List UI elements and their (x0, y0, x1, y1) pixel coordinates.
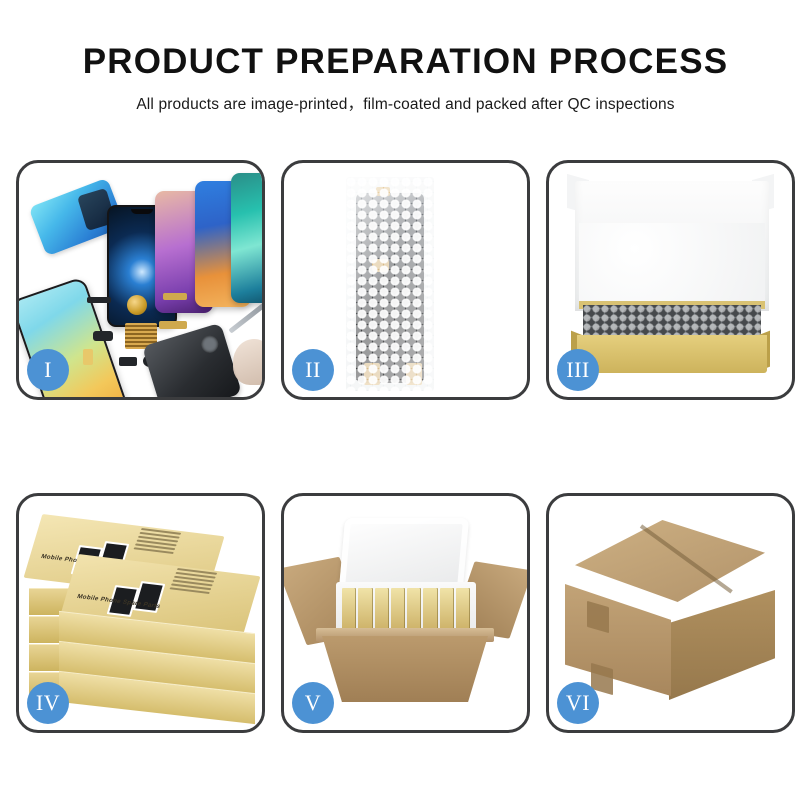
flex-cable-icon (163, 293, 187, 300)
chip-icon (93, 331, 113, 341)
speaker-coil-icon (127, 295, 147, 315)
gold-box-item (391, 588, 405, 630)
header: PRODUCT PREPARATION PROCESS All products… (0, 0, 811, 114)
plastic-sheen (346, 177, 434, 391)
step-badge: II (292, 349, 334, 391)
kraft-carton-icon (322, 636, 488, 702)
process-steps-grid: I II (16, 160, 795, 794)
phone-teal-icon (231, 173, 262, 303)
chip-icon (119, 357, 137, 366)
carton-front-face (565, 584, 671, 696)
carton-top-face (575, 520, 765, 602)
step-panel-foam-carton-loading: V (281, 493, 530, 733)
flex-cable-icon (159, 321, 187, 329)
step-badge: III (557, 349, 599, 391)
gold-box-item (407, 588, 421, 630)
step-badge: IV (27, 682, 69, 724)
step-panel-inner-box-packing: III (546, 160, 795, 400)
page-subtitle: All products are image-printed，film-coat… (0, 92, 811, 114)
step-panel-sealed-shipping-carton: VI (546, 493, 795, 733)
gold-boxes-row (342, 588, 470, 630)
carton-side-face (669, 590, 775, 700)
page-title: PRODUCT PREPARATION PROCESS (0, 44, 811, 81)
product-preparation-infographic: PRODUCT PREPARATION PROCESS All products… (0, 0, 811, 811)
foam-lid-icon (339, 518, 469, 590)
gold-box-item (375, 588, 389, 630)
step-panel-raw-parts: I (16, 160, 265, 400)
step-badge: V (292, 682, 334, 724)
box-stack: Mobile Phone Spare Parts Mobile Phone Sp… (25, 518, 261, 714)
step-badge: VI (557, 682, 599, 724)
chip-icon (87, 297, 111, 303)
gold-box-item (440, 588, 454, 630)
step-panel-stacked-gold-boxes: Mobile Phone Spare Parts Mobile Phone Sp… (16, 493, 265, 733)
foam-padding-icon (579, 223, 765, 309)
box-spec-lines (169, 568, 218, 596)
step-panel-bubble-wrapped-screen: II (281, 160, 530, 400)
gold-tray-icon (577, 335, 767, 373)
box-spec-lines (133, 528, 182, 556)
gold-box-item (358, 588, 372, 630)
flex-cable-icon (83, 349, 93, 365)
gold-box-item (456, 588, 470, 630)
hand-icon (233, 339, 262, 385)
gold-box-item (423, 588, 437, 630)
step-badge: I (27, 349, 69, 391)
gold-box-item (342, 588, 356, 630)
bubble-wrapped-contents-icon (583, 305, 761, 339)
